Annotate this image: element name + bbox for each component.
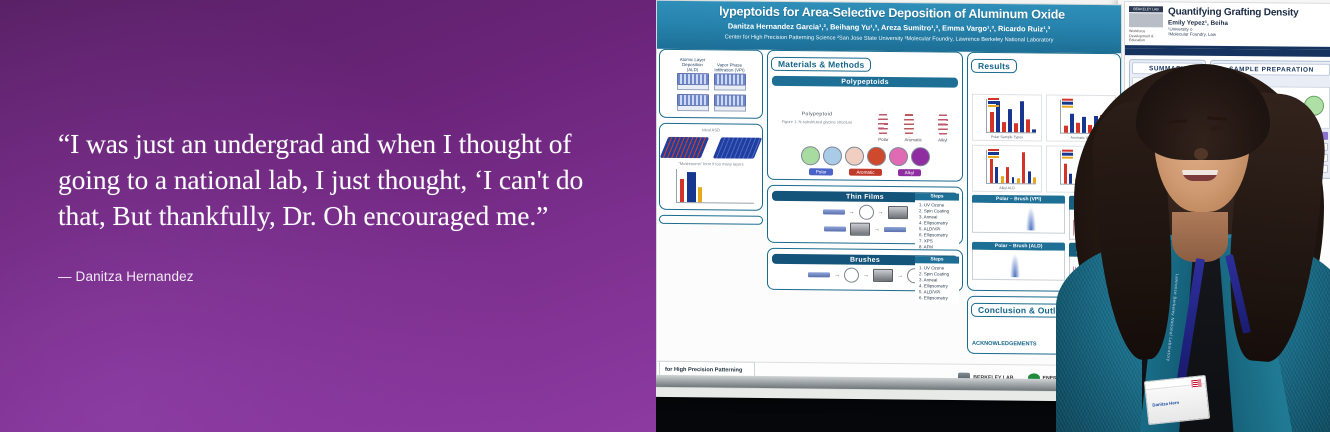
- flow-arrow-icon: →: [849, 209, 855, 215]
- right-poster-affil-2: ²Molecular Foundry, Law: [1168, 31, 1330, 37]
- polypeptoid-text: [772, 89, 862, 108]
- flow-anneal: [859, 205, 874, 220]
- right-poster-header: BERKELEY LAB Workforce Development & Edu…: [1125, 2, 1330, 50]
- eye-left: [1170, 128, 1185, 133]
- polypeptoid-text-2: [772, 124, 862, 143]
- brush-arrow-icon-2: →: [863, 272, 869, 278]
- chart-legend-3: [988, 149, 999, 159]
- brushes-card: Brushes → → →: [767, 248, 963, 292]
- references-card: [659, 215, 763, 225]
- right-poster-logo: BERKELEY LAB Workforce Development & Edu…: [1129, 6, 1163, 45]
- poster-header: lypeptoids for Area-Selective Deposition…: [657, 1, 1121, 53]
- chart-xlabel-1: Polar Sample Types: [974, 135, 1040, 140]
- mouth-smile: [1182, 170, 1218, 181]
- brush-arrow-icon: →: [834, 272, 840, 278]
- blob-2: [823, 146, 842, 165]
- blob-5: [889, 147, 908, 166]
- brushes-steps: Steps 1. UV Ozone 2. Spin Coating 3. Ann…: [915, 256, 959, 303]
- bar-chart-3: Alkyl ALD: [972, 145, 1042, 193]
- vpi-chip-2: [714, 94, 746, 111]
- poster-column-intro: Atomic Layer Deposition (ALD) Vapor Phas…: [659, 49, 763, 230]
- brush-arrow-icon-3: →: [897, 273, 903, 279]
- tag-alkyl: Alkyl: [898, 169, 922, 176]
- ald-chip-2: [677, 94, 709, 111]
- ald-chip: Atomic Layer Deposition (ALD): [677, 57, 709, 90]
- blob-1: [801, 146, 820, 165]
- brush-anneal: [844, 268, 859, 283]
- mushroom-figure: [664, 137, 758, 159]
- blob-4: [867, 147, 886, 166]
- coil-figures: Polar Aromatic Alkyl: [868, 111, 958, 143]
- thin-films-steps: Steps 1. UV Ozone 2. Spin Coating 3. Ann…: [915, 193, 959, 252]
- flag-icon: [1191, 379, 1202, 387]
- intro-text: [664, 53, 758, 54]
- background-card: Ideal ASD "Mushrooms" form if too many l…: [659, 123, 763, 211]
- brush-photo: [873, 269, 893, 282]
- tag-polar: Polar: [809, 168, 834, 175]
- right-poster-titleblock: Quantifying Grafting Density Emily Yepez…: [1168, 6, 1330, 46]
- ald-vpi-schematic: Atomic Layer Deposition (ALD) Vapor Phas…: [664, 57, 758, 91]
- neck: [1172, 212, 1228, 262]
- quote-panel: “I was just an undergrad and when I thou…: [0, 0, 656, 432]
- thin-films-card: Thin Films → →: [767, 185, 963, 245]
- research-poster-left: lypeptoids for Area-Selective Deposition…: [656, 0, 1122, 392]
- type-tags: Polar Aromatic Alkyl: [772, 168, 958, 177]
- screenshot-root: “I was just an undergrad and when I thou…: [0, 0, 1330, 432]
- flow-substrate-2: [824, 226, 846, 231]
- slab-mixed: [660, 137, 709, 158]
- nose: [1194, 148, 1208, 160]
- right-logo-program: Workforce Development & Education: [1129, 29, 1163, 43]
- chart-legend-1: [988, 98, 999, 108]
- pull-quote-text: “I was just an undergrad and when I thou…: [58, 126, 608, 234]
- vpi-chip: Vapor Phase Infiltration (VPI): [714, 62, 746, 90]
- ideal-asd-caption: Ideal ASD: [664, 127, 758, 133]
- feature-photo: lypeptoids for Area-Selective Deposition…: [656, 0, 1330, 432]
- mushroom-caption: "Mushrooms" form if too many layers: [664, 161, 758, 167]
- brush-substrate: [808, 272, 830, 277]
- spectrum-polar-ald: Polar – Brush (ALD): [972, 242, 1065, 287]
- poster-column-methods: Materials & Methods Polypeptoids Polypep…: [767, 50, 963, 297]
- chemical-formula: Polypeptoid: [772, 111, 862, 118]
- bar-chart-1: Polar Sample Types: [972, 94, 1042, 142]
- flow-film: [884, 227, 906, 232]
- b-step-6: 6. Ellipsometry: [919, 295, 959, 301]
- blob-3: [845, 147, 864, 166]
- types-text: [868, 90, 958, 109]
- flow-substrate: [823, 209, 845, 214]
- spectrum-polar-vpi: Polar – Brush (VPI): [972, 195, 1065, 240]
- intro-card: Atomic Layer Deposition (ALD) Vapor Phas…: [659, 49, 763, 119]
- materials-methods-card: Materials & Methods Polypeptoids Polypep…: [767, 50, 963, 182]
- right-logo-lab: BERKELEY LAB: [1129, 6, 1163, 12]
- blob-6: [911, 147, 930, 166]
- coil-alkyl: Alkyl: [938, 111, 948, 142]
- id-badge: Danitza Hern: [1144, 375, 1210, 425]
- flow-arrow-icon-2: →: [878, 209, 884, 215]
- flow-instrument-photo-2: [850, 223, 870, 236]
- section-results: Results: [971, 59, 1017, 73]
- background-text-3: [664, 205, 758, 206]
- chart-xlabel-3: Alkyl ALD: [974, 186, 1040, 191]
- poster-title: lypeptoids for Area-Selective Deposition…: [663, 4, 1121, 23]
- coil-aromatic: Aromatic: [904, 111, 921, 142]
- flow-instrument-photo: [888, 206, 908, 219]
- flow-arrow-icon-3: →: [874, 226, 880, 232]
- intro-bar-chart: [676, 169, 754, 204]
- eye-right: [1210, 126, 1225, 131]
- steps-list: 1. UV Ozone 2. Spin Coating 3. Anneal 4.…: [915, 200, 959, 252]
- molecule-blobs: [772, 146, 958, 167]
- right-poster-title: Quantifying Grafting Density: [1168, 6, 1330, 18]
- ald-vpi-schematic-2: [664, 94, 758, 112]
- subsection-polypeptoids: Polypeptoids: [772, 76, 958, 88]
- person-photo: Lawrence Berkeley National Laboratory Da…: [1068, 44, 1330, 432]
- steps-list-2: 1. UV Ozone 2. Spin Coating 3. Anneal 4.…: [915, 263, 959, 303]
- coil-polar: Polar: [878, 111, 888, 142]
- section-materials-methods: Materials & Methods: [771, 57, 871, 72]
- right-logo-mark-icon: [1129, 13, 1163, 27]
- poster-body: Atomic Layer Deposition (ALD) Vapor Phas…: [657, 49, 1121, 391]
- references-text: [664, 219, 758, 220]
- tag-aromatic: Aromatic: [849, 169, 881, 176]
- slab-blue: [713, 137, 762, 158]
- quote-attribution: — Danitza Hernandez: [58, 269, 194, 284]
